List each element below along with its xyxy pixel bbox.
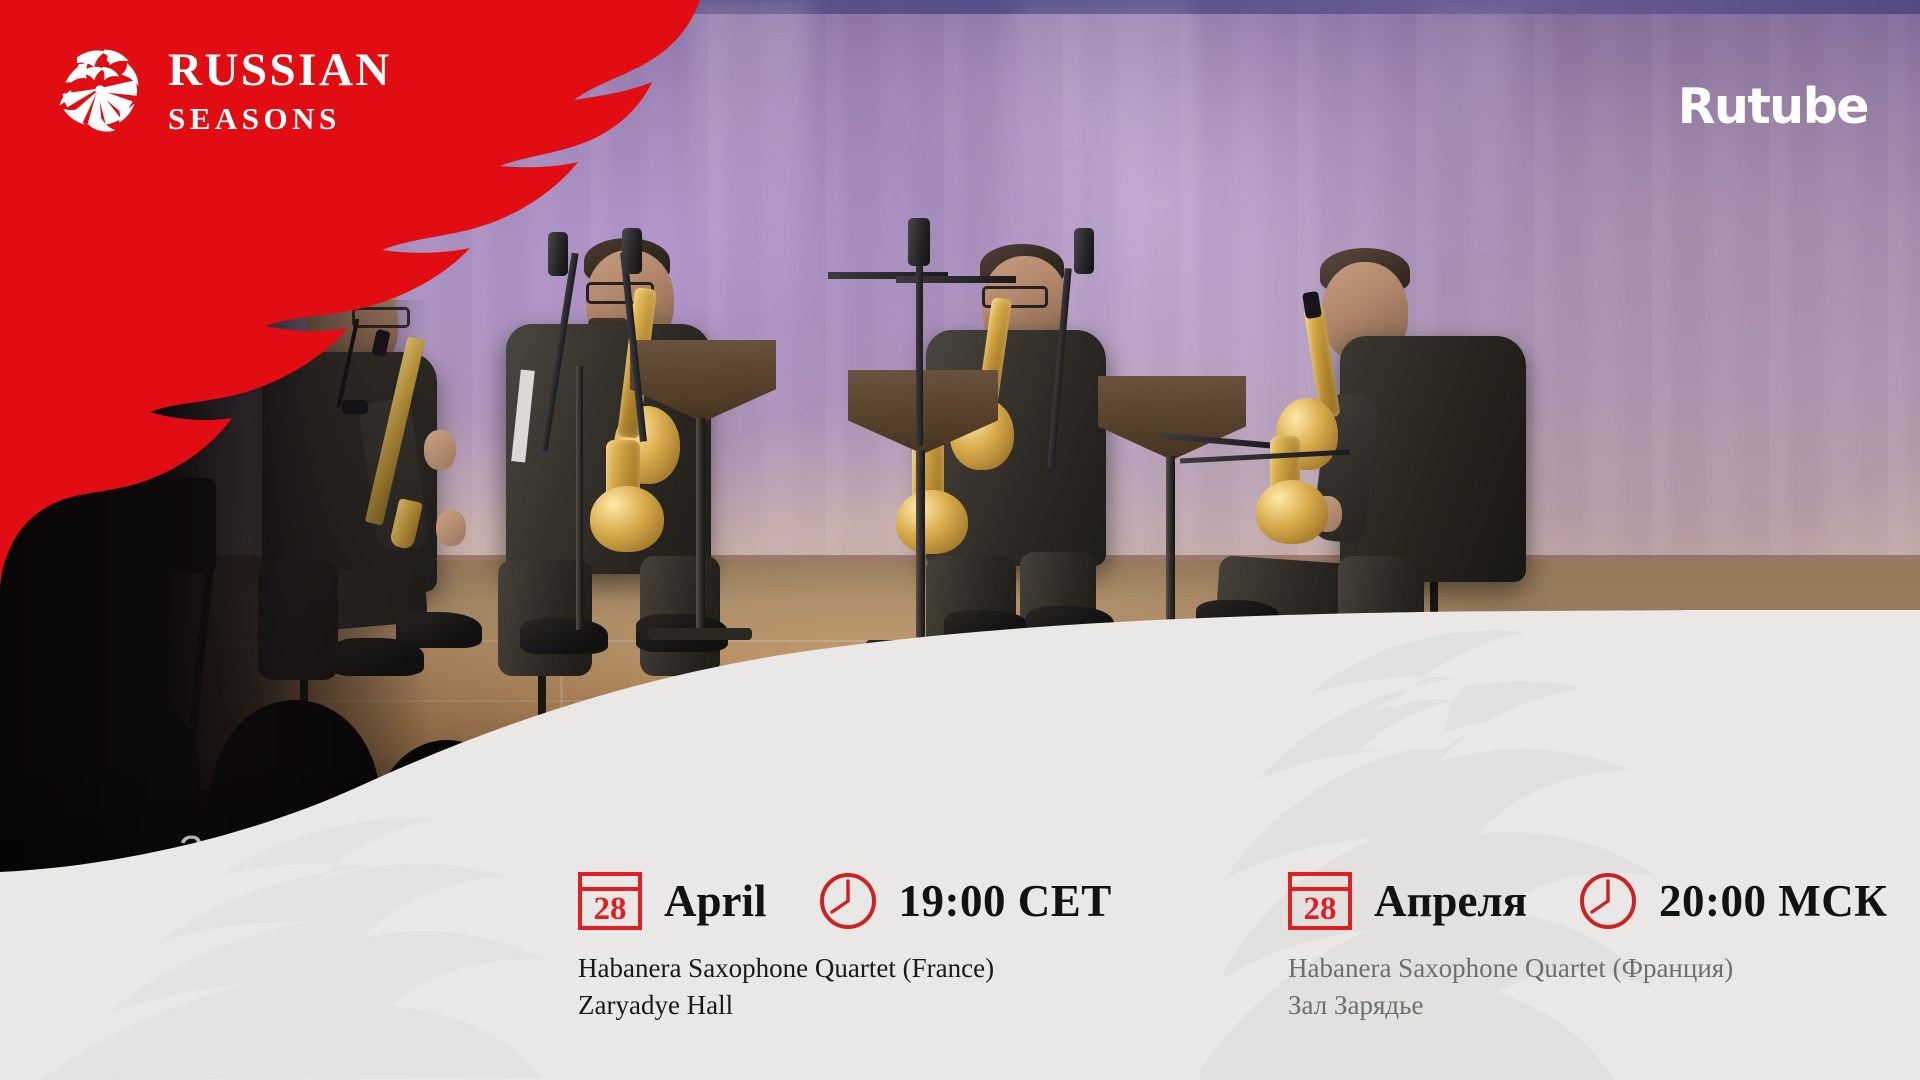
rutube-logo[interactable]: Rutube (1678, 78, 1868, 135)
russian-seasons-line1: RUSSIAN (168, 47, 392, 94)
russian-seasons-line2: SEASONS (168, 103, 392, 134)
event-month-en: April (664, 875, 767, 927)
calendar-icon: 28 (578, 872, 642, 930)
event-venue-en: Zaryadye Hall (578, 987, 1112, 1024)
event-description-en: Habanera Saxophone Quartet (France) Zary… (578, 950, 1112, 1025)
calendar-icon: 28 (1288, 872, 1352, 930)
event-list: 28 April 19:00 CET Habanera Saxophone Qu… (0, 610, 1920, 1080)
event-month-ru: Апреля (1374, 875, 1527, 927)
event-performer-en: Habanera Saxophone Quartet (France) (578, 950, 1112, 987)
light-beam (1430, 10, 1520, 270)
event-description-ru: Habanera Saxophone Quartet (Франция) Зал… (1288, 950, 1887, 1025)
event-venue-ru: Зал Зарядье (1288, 987, 1887, 1024)
calendar-day-ru: 28 (1304, 891, 1337, 927)
event-time-ru: 20:00 МСК (1659, 875, 1887, 927)
event-performer-ru: Habanera Saxophone Quartet (Франция) (1288, 950, 1887, 987)
firebird-rosette-icon (52, 42, 148, 138)
event-details-panel: 28 April 19:00 CET Habanera Saxophone Qu… (0, 610, 1920, 1080)
event-time-en: 19:00 CET (899, 875, 1112, 927)
event-header-ru: 28 Апреля 20:00 МСК (1288, 872, 1887, 930)
event-entry-ru: 28 Апреля 20:00 МСК Habanera Saxophone Q… (1288, 872, 1887, 1025)
event-entry-en: 28 April 19:00 CET Habanera Saxophone Qu… (578, 872, 1112, 1025)
event-header-en: 28 April 19:00 CET (578, 872, 1112, 930)
russian-seasons-logo: RUSSIAN SEASONS (52, 42, 392, 138)
event-poster: RUSSIAN SEASONS Rutube ЗАЛ ЗАРЯДЬЕ КУЛЬТ… (0, 0, 1920, 1080)
clock-icon (1579, 872, 1637, 930)
calendar-day-en: 28 (594, 891, 627, 927)
clock-icon (819, 872, 877, 930)
